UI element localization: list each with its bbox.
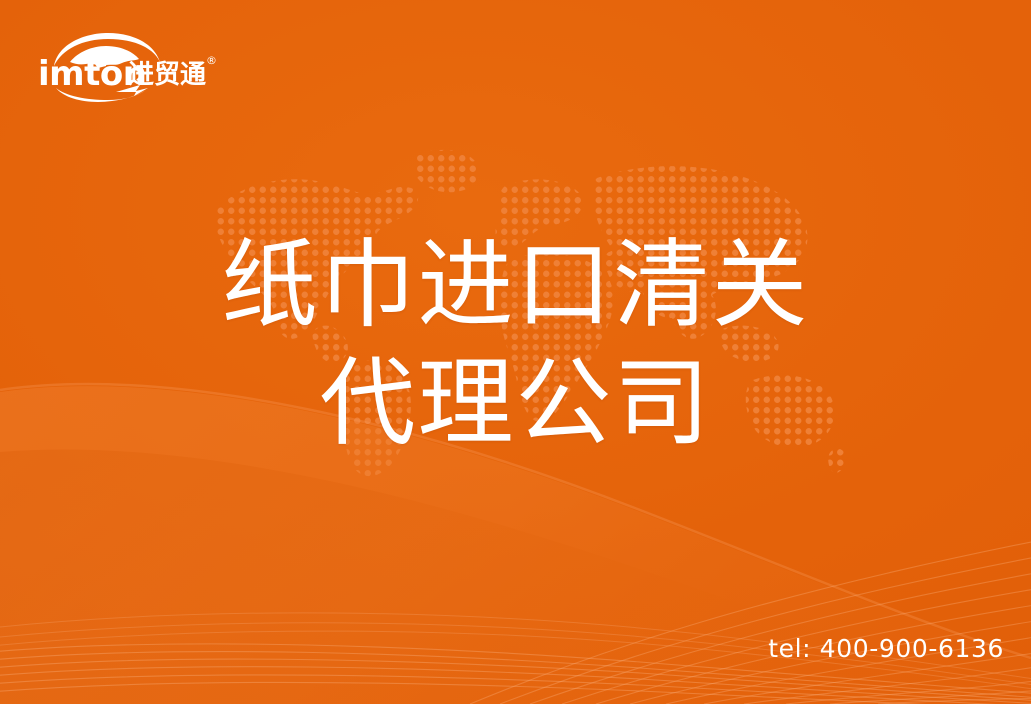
- page-title-line-1: 纸巾进口清关: [0, 226, 1031, 344]
- logo-chinese-text: 进贸通: [128, 60, 206, 90]
- contact-phone: tel: 400-900-6136: [768, 634, 1004, 663]
- promotional-banner: imton 进贸通 ® 纸巾进口清关 代理公司 tel: 400-900-613…: [0, 0, 1031, 704]
- company-logo[interactable]: imton 进贸通 ®: [36, 30, 246, 102]
- page-title: 纸巾进口清关 代理公司: [0, 226, 1031, 462]
- logo-trademark-symbol: ®: [206, 54, 217, 67]
- globe-swoosh-logo-icon: imton 进贸通 ®: [36, 30, 246, 102]
- page-title-line-2: 代理公司: [0, 344, 1031, 462]
